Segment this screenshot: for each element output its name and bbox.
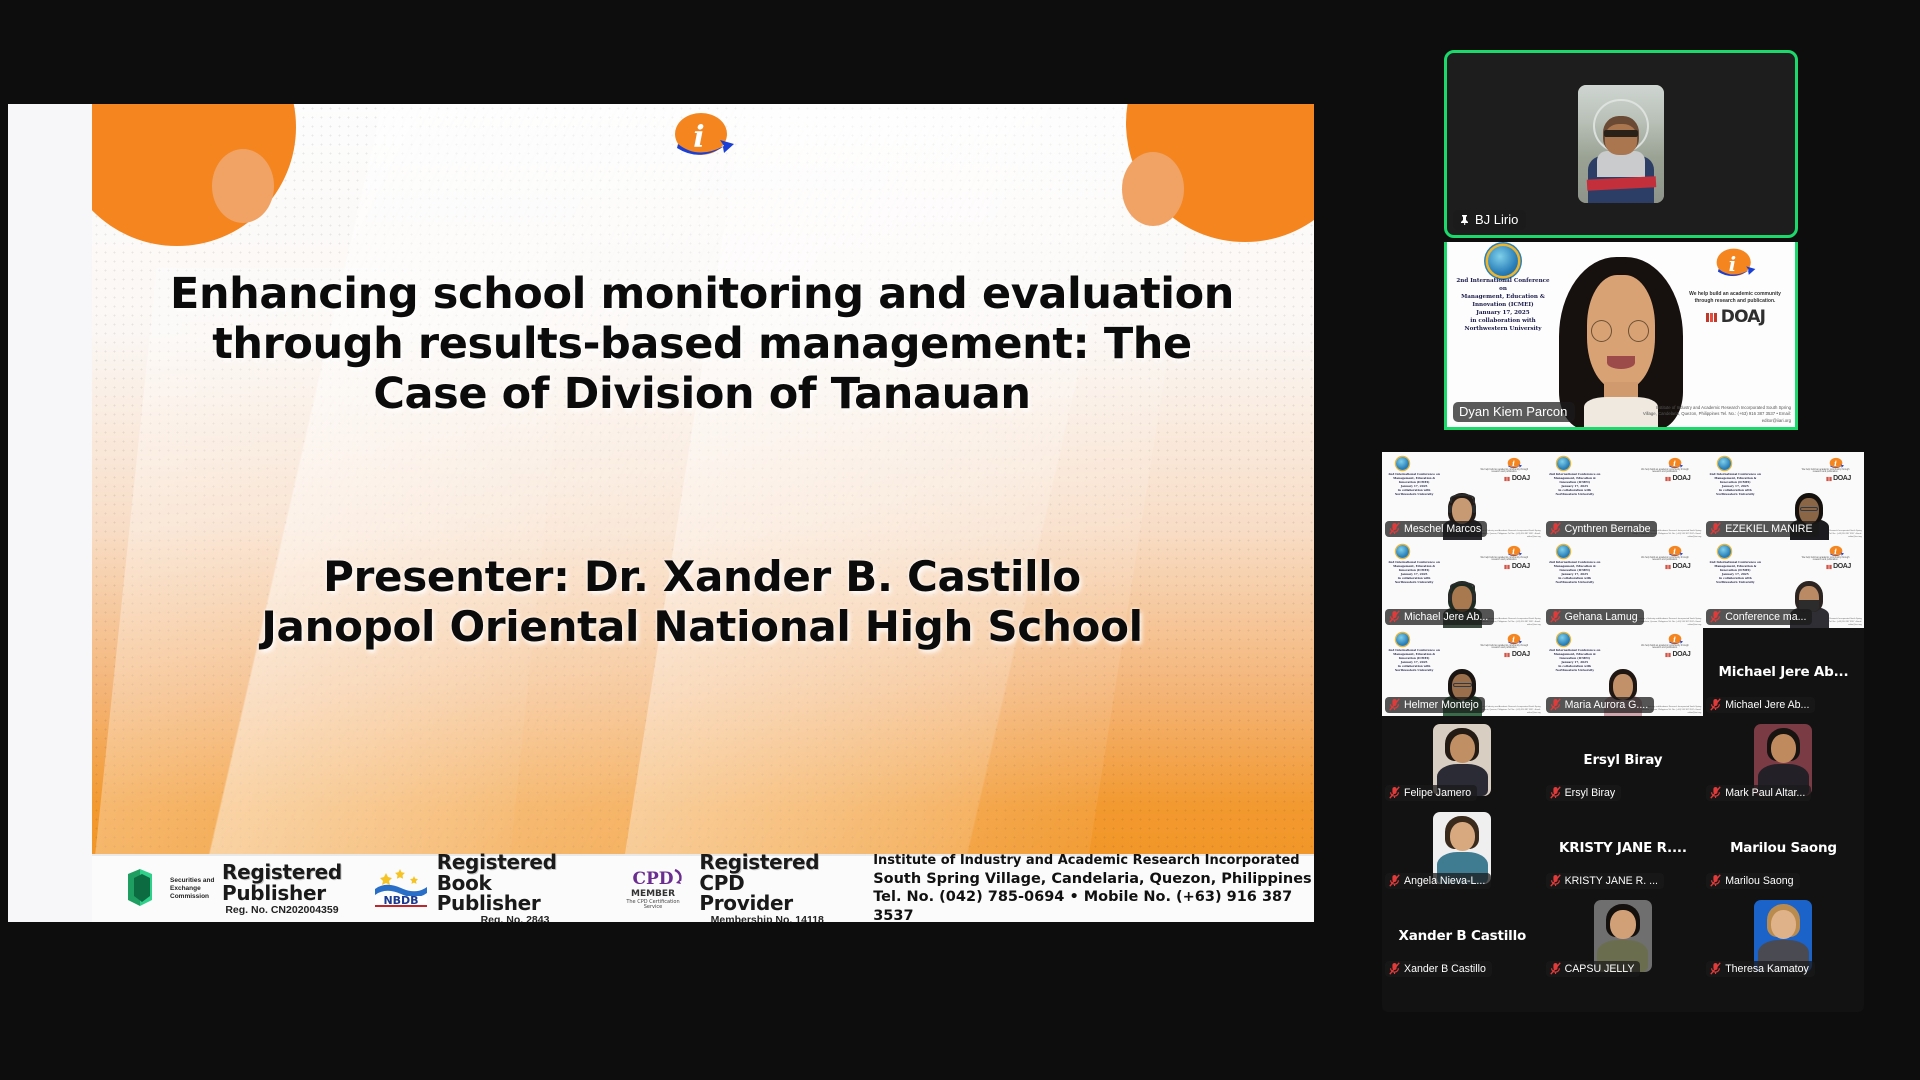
doaj-brand: DOAJ [1826, 475, 1851, 482]
doaj-label: DOAJ [1672, 651, 1690, 658]
slide-footer-bar: Securities and Exchange Commission Regis… [92, 854, 1314, 922]
video-tile[interactable]: Xander B Castillo Xander B Castillo [1382, 892, 1543, 980]
conference-banner-text: 2nd International Conference onManagemen… [1706, 472, 1764, 496]
doaj-brand: DOAJ [1665, 651, 1690, 658]
participant-name: Michael Jere Ab... [1404, 611, 1488, 623]
institute-name: Institute of Industry and Academic Resea… [873, 853, 1314, 870]
gallery-rows: 2nd International Conference onManagemen… [1382, 452, 1864, 980]
participant-name: Theresa Kamatoy [1725, 963, 1809, 975]
name-tag: Gehana Lamug [1546, 609, 1644, 625]
video-tile[interactable]: Michael Jere Ab... Michael Jere Ab... [1703, 628, 1864, 716]
participant-name: Dyan Kiem Parcon [1459, 404, 1567, 419]
doaj-logo-icon [1665, 564, 1671, 570]
svg-text:i: i [1512, 459, 1515, 468]
nbdb-logo-icon: NBDB [372, 867, 431, 912]
name-tag: EZEKIEL MANIRE [1706, 521, 1818, 537]
name-tag: Theresa Kamatoy [1706, 961, 1815, 977]
svg-text:Service: Service [644, 904, 662, 908]
doaj-label: DOAJ [1512, 563, 1530, 570]
microphone-muted-icon [1710, 962, 1721, 975]
conference-banner-left: 2nd International Conference on Manageme… [1453, 246, 1553, 334]
conference-title-line-3: Innovation (ICMEI) [1453, 302, 1553, 310]
conference-banner-footer: Institute of Industry and Academic Resea… [1641, 405, 1791, 424]
doaj-brand: DOAJ [1504, 651, 1529, 658]
sec-line2: Publisher [222, 883, 342, 903]
microphone-muted-icon [1550, 874, 1561, 887]
participant-name: Gehana Lamug [1565, 611, 1638, 623]
certification-cpd: CPD MEMBER The CPD Certification Service… [623, 852, 865, 922]
institute-phone: Tel. No. (042) 785-0694 • Mobile No. (+6… [873, 888, 1314, 922]
microphone-muted-icon [1550, 786, 1561, 799]
iiari-tagline: We help build an academic community thro… [1638, 645, 1692, 649]
video-tile[interactable]: 2nd International Conference onManagemen… [1703, 452, 1864, 540]
svg-text:i: i [1673, 635, 1676, 644]
conference-collab-label: in collaboration with [1453, 318, 1553, 326]
name-tag: BJ Lirio [1453, 210, 1526, 230]
sec-line1: Registered [222, 862, 342, 882]
slide-circle-decoration [212, 149, 274, 223]
doaj-brand: DOAJ [1681, 307, 1789, 327]
slide-presenter-block: Presenter: Dr. Xander B. Castillo Janopo… [162, 552, 1242, 653]
sec-cert-text: Registered Publisher Reg. No. CN20200435… [222, 862, 342, 916]
doaj-brand: DOAJ [1665, 563, 1690, 570]
doaj-label: DOAJ [1833, 475, 1851, 482]
shared-screen-slide[interactable]: i Enhancing school monitoring and evalua… [8, 104, 1314, 922]
zoom-meeting-window: i Enhancing school monitoring and evalua… [0, 0, 1920, 1080]
nbdb-line2: Book Publisher [437, 873, 594, 913]
video-tile[interactable]: 2nd International Conference onManagemen… [1382, 452, 1543, 540]
certification-nbdb: NBDB Registered Book Publisher Reg. No. … [372, 852, 623, 922]
participant-name: Angela Nieva-L... [1404, 875, 1485, 887]
participant-name: EZEKIEL MANIRE [1725, 523, 1812, 535]
microphone-muted-icon [1389, 610, 1400, 623]
gallery-row: 2nd International Conference onManagemen… [1382, 628, 1864, 716]
sec-logo-caption: Securities and Exchange Commission [170, 877, 216, 901]
doaj-label: DOAJ [1512, 651, 1530, 658]
conference-banner-right: i We help build an academic community th… [1681, 246, 1789, 327]
video-tile[interactable]: 2nd International Conference onManagemen… [1543, 452, 1704, 540]
video-tile[interactable]: KRISTY JANE R.... KRISTY JANE R. ... [1543, 804, 1704, 892]
conference-title-line-2: Management, Education & [1453, 294, 1553, 302]
participants-gallery-grid[interactable]: 2nd International Conference onManagemen… [1382, 452, 1864, 1012]
svg-text:i: i [1834, 547, 1837, 556]
participant-name: Mark Paul Altar... [1725, 787, 1805, 799]
iiari-i-logo-icon: i [1712, 246, 1758, 284]
participant-name: KRISTY JANE R. ... [1565, 875, 1658, 887]
video-tile-dyan-kiem-parcon[interactable]: 2nd International Conference on Manageme… [1444, 242, 1798, 430]
gallery-row: Angela Nieva-L... KRISTY JANE R.... KRIS… [1382, 804, 1864, 892]
doaj-brand: DOAJ [1504, 563, 1529, 570]
name-tag: Michael Jere Ab... [1706, 697, 1815, 713]
doaj-label: DOAJ [1672, 475, 1690, 482]
svg-text:i: i [1729, 252, 1737, 276]
iiari-tagline: We help build an academic community thro… [1638, 557, 1692, 561]
doaj-brand: DOAJ [1826, 563, 1851, 570]
svg-text:i: i [1673, 459, 1676, 468]
microphone-muted-icon [1710, 610, 1721, 623]
institute-contact-block: Institute of Industry and Academic Resea… [873, 853, 1314, 922]
name-tag: Meschel Marcos [1385, 521, 1487, 537]
gallery-row: Felipe Jamero Ersyl Biray Ersyl Biray Ma… [1382, 716, 1864, 804]
sec-logo-icon [120, 866, 164, 912]
video-tile[interactable]: Angela Nieva-L... [1382, 804, 1543, 892]
gallery-row: Xander B Castillo Xander B Castillo CAPS… [1382, 892, 1864, 980]
nbdb-cert-text: Registered Book Publisher Reg. No. 2843 [437, 852, 594, 922]
svg-text:i: i [1512, 635, 1515, 644]
svg-text:i: i [693, 120, 704, 155]
doaj-logo-icon [1826, 564, 1832, 570]
video-tile[interactable]: Felipe Jamero [1382, 716, 1543, 804]
nbdb-mark-icon: NBDB [372, 867, 430, 907]
microphone-muted-icon [1550, 962, 1561, 975]
doaj-logo-icon [1504, 564, 1510, 570]
microphone-muted-icon [1710, 786, 1721, 799]
slide-title: Enhancing school monitoring and evaluati… [162, 270, 1242, 420]
name-tag: Felipe Jamero [1385, 785, 1477, 801]
video-tile[interactable]: Mark Paul Altar... [1703, 716, 1864, 804]
microphone-muted-icon [1389, 874, 1400, 887]
doaj-brand: DOAJ [1504, 475, 1529, 482]
cpd-cert-text: Registered CPD Provider Membership No. 1… [699, 852, 835, 922]
video-tile[interactable]: 2nd International Conference onManagemen… [1382, 628, 1543, 716]
conference-banner-text: 2nd International Conference onManagemen… [1385, 560, 1443, 584]
gallery-row: 2nd International Conference onManagemen… [1382, 452, 1864, 540]
conference-banner-text: 2nd International Conference onManagemen… [1385, 648, 1443, 672]
doaj-logo-icon [1826, 476, 1832, 482]
microphone-muted-icon [1550, 698, 1561, 711]
bj-lirio-video-feed [1578, 85, 1664, 203]
conference-globe-icon [1488, 246, 1518, 276]
name-tag: Mark Paul Altar... [1706, 785, 1811, 801]
participant-name: Ersyl Biray [1565, 787, 1616, 799]
iiari-tagline: We help build an academic community thro… [1799, 557, 1853, 561]
doaj-brand: DOAJ [1665, 475, 1690, 482]
name-tag: KRISTY JANE R. ... [1546, 873, 1664, 889]
slide-canvas: i Enhancing school monitoring and evalua… [92, 104, 1314, 922]
video-tile[interactable]: 2nd International Conference onManagemen… [1703, 540, 1864, 628]
name-tag: Angela Nieva-L... [1385, 873, 1491, 889]
iiari-tagline: We help build an academic community thro… [1638, 469, 1692, 473]
microphone-muted-icon [1710, 522, 1721, 535]
conference-banner-text: 2nd International Conference onManagemen… [1706, 560, 1764, 584]
video-tile[interactable]: 2nd International Conference onManagemen… [1382, 540, 1543, 628]
conference-globe-icon [1718, 545, 1731, 558]
microphone-muted-icon [1389, 698, 1400, 711]
video-tile[interactable]: 2nd International Conference onManagemen… [1543, 628, 1704, 716]
name-tag: Marilou Saong [1706, 873, 1799, 889]
conference-banner-text: 2nd International Conference onManagemen… [1546, 560, 1604, 584]
video-tile[interactable]: 2nd International Conference onManagemen… [1543, 540, 1704, 628]
cpd-membership-number: Membership No. 14118 [699, 915, 835, 922]
cpd-mark-icon: CPD MEMBER The CPD Certification Service [623, 866, 693, 908]
participant-name: Helmer Montejo [1404, 699, 1479, 711]
svg-text:i: i [1834, 459, 1837, 468]
doaj-label: DOAJ [1721, 307, 1765, 327]
iiari-tagline: We help build an academic community thro… [1477, 469, 1531, 473]
nbdb-line1: Registered [437, 852, 594, 872]
participant-name: Xander B Castillo [1404, 963, 1486, 975]
name-tag: Michael Jere Ab... [1385, 609, 1494, 625]
participant-name: Cynthren Bernabe [1565, 523, 1651, 535]
doaj-logo-icon [1504, 476, 1510, 482]
doaj-logo-icon [1665, 476, 1671, 482]
conference-globe-icon [1557, 633, 1570, 646]
video-tile[interactable]: Marilou Saong Marilou Saong [1703, 804, 1864, 892]
iiari-tagline: We help build an academic community thro… [1799, 469, 1853, 473]
microphone-muted-icon [1389, 522, 1400, 535]
doaj-label: DOAJ [1672, 563, 1690, 570]
participant-name: Meschel Marcos [1404, 523, 1481, 535]
participant-name: Michael Jere Ab... [1725, 699, 1809, 711]
video-tile[interactable]: CAPSU JELLY [1543, 892, 1704, 980]
participant-name: CAPSU JELLY [1565, 963, 1635, 975]
doaj-label: DOAJ [1512, 475, 1530, 482]
conference-collab-university: Northwestern University [1453, 326, 1553, 334]
participants-video-panel: BJ Lirio 2nd International Conference on… [1382, 50, 1864, 1010]
certification-sec: Securities and Exchange Commission Regis… [120, 862, 372, 916]
video-tile[interactable]: Theresa Kamatoy [1703, 892, 1864, 980]
conference-title-line-1: 2nd International Conference on [1453, 278, 1553, 294]
microphone-muted-icon [1550, 522, 1561, 535]
microphone-muted-icon [1389, 962, 1400, 975]
svg-text:MEMBER: MEMBER [631, 889, 675, 899]
microphone-muted-icon [1710, 874, 1721, 887]
doaj-label: DOAJ [1833, 563, 1851, 570]
participant-name: Marilou Saong [1725, 875, 1793, 887]
svg-text:i: i [1673, 547, 1676, 556]
doaj-logo-icon [1504, 652, 1510, 658]
pin-icon [1459, 214, 1470, 226]
svg-text:CPD: CPD [633, 869, 674, 889]
cpd-line2: CPD Provider [699, 873, 835, 913]
conference-date: January 17, 2025 [1453, 310, 1553, 318]
name-tag: Xander B Castillo [1385, 961, 1492, 977]
video-tile[interactable]: Ersyl Biray Ersyl Biray [1543, 716, 1704, 804]
participant-name: BJ Lirio [1475, 212, 1518, 227]
gallery-row: 2nd International Conference onManagemen… [1382, 540, 1864, 628]
microphone-muted-icon [1550, 610, 1561, 623]
name-tag: Conference ma... [1706, 609, 1812, 625]
microphone-muted-icon [1710, 698, 1721, 711]
name-tag: Cynthren Bernabe [1546, 521, 1657, 537]
slide-circle-decoration [1122, 152, 1184, 226]
conference-banner-text: 2nd International Conference onManagemen… [1546, 472, 1604, 496]
sec-reg-number: Reg. No. CN202004359 [222, 905, 342, 916]
svg-text:i: i [1512, 547, 1515, 556]
name-tag: CAPSU JELLY [1546, 961, 1641, 977]
microphone-muted-icon [1389, 786, 1400, 799]
iiari-i-logo-icon: i [668, 110, 738, 166]
name-tag: Maria Aurora G.... [1546, 697, 1655, 713]
name-tag: Dyan Kiem Parcon [1453, 402, 1575, 422]
conference-globe-icon [1557, 457, 1570, 470]
video-tile-bj-lirio[interactable]: BJ Lirio [1444, 50, 1798, 238]
name-tag: Ersyl Biray [1546, 785, 1622, 801]
name-tag: Helmer Montejo [1385, 697, 1485, 713]
conference-globe-icon [1557, 545, 1570, 558]
doaj-logo-icon [1665, 652, 1671, 658]
conference-banner-text: 2nd International Conference onManagemen… [1385, 472, 1443, 496]
participant-name: Maria Aurora G.... [1565, 699, 1649, 711]
participant-name: Conference ma... [1725, 611, 1806, 623]
iiari-tagline: We help build an academic community thro… [1681, 291, 1789, 304]
cpd-member-logo-icon: CPD MEMBER The CPD Certification Service [623, 866, 693, 913]
presenter-line-1: Presenter: Dr. Xander B. Castillo [323, 552, 1081, 601]
iiari-tagline: We help build an academic community thro… [1477, 557, 1531, 561]
nbdb-reg-number: Reg. No. 2843 [437, 915, 594, 922]
presenter-line-2: Janopol Oriental National High School [162, 602, 1242, 652]
conference-globe-icon [1718, 457, 1731, 470]
participant-name: Felipe Jamero [1404, 787, 1471, 799]
institute-address: South Spring Village, Candelaria, Quezon… [873, 870, 1314, 889]
cpd-line1: Registered [699, 852, 835, 872]
iiari-tagline: We help build an academic community thro… [1477, 645, 1531, 649]
conference-banner-text: 2nd International Conference onManagemen… [1546, 648, 1604, 672]
doaj-logo-icon [1705, 311, 1718, 324]
